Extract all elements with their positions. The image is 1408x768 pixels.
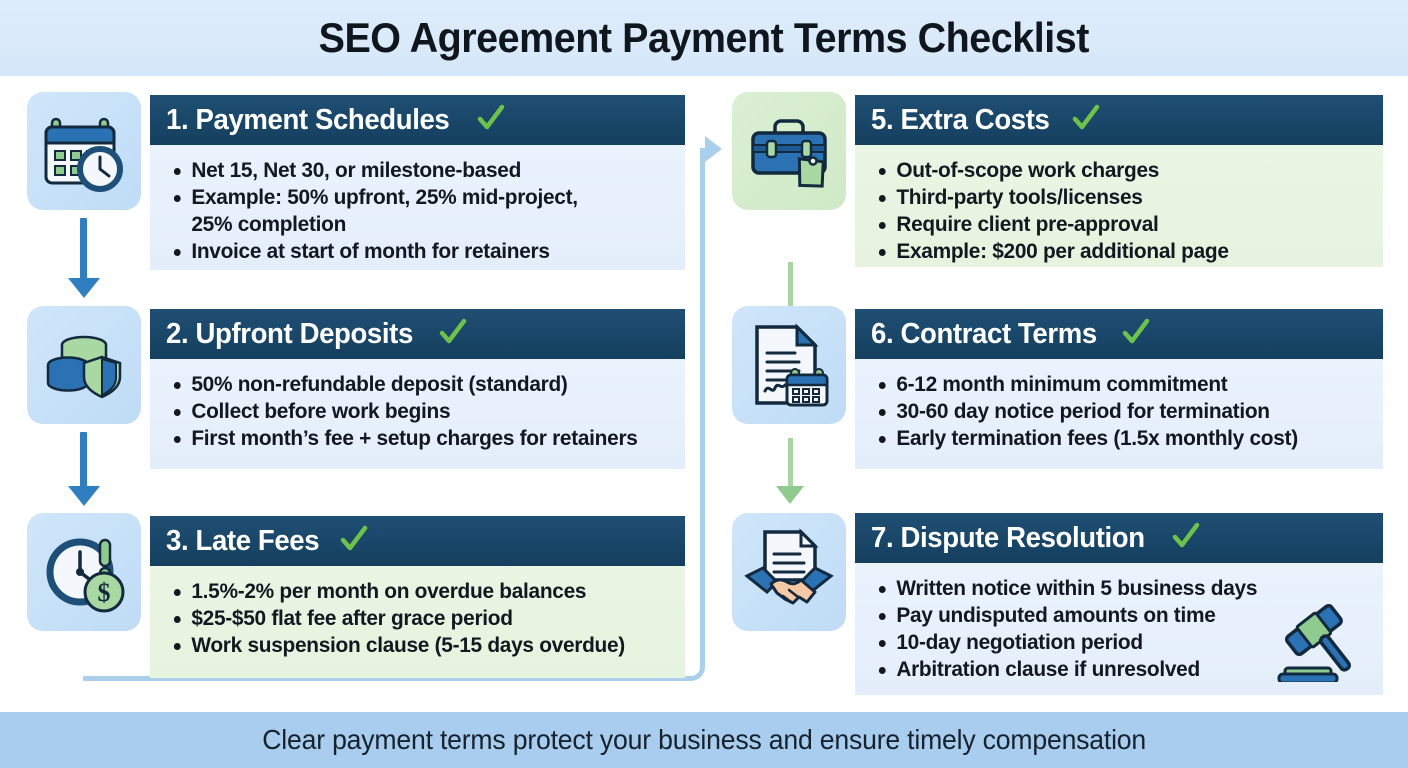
card-header: 2. Upfront Deposits bbox=[150, 309, 685, 359]
connector-arrow-into-card5 bbox=[705, 136, 722, 162]
card-panel: 3. Late Fees 1.5%-2% per month on overdu… bbox=[150, 516, 685, 678]
handshake-document-icon bbox=[732, 513, 846, 631]
card-body: 1.5%-2% per month on overdue balances $2… bbox=[150, 566, 685, 678]
list-item: First month’s fee + setup charges for re… bbox=[170, 425, 656, 452]
list-item: Invoice at start of month for retainers bbox=[170, 238, 656, 265]
bullet-list: Net 15, Net 30, or milestone-based Examp… bbox=[170, 157, 671, 265]
list-item: Work suspension clause (5-15 days overdu… bbox=[170, 632, 656, 659]
list-item: Collect before work begins bbox=[170, 398, 656, 425]
card-header: 7. Dispute Resolution bbox=[855, 513, 1383, 563]
card-title: 7. Dispute Resolution bbox=[871, 522, 1145, 555]
gavel-icon bbox=[1269, 596, 1365, 687]
signed-document-calendar-icon bbox=[732, 306, 846, 424]
bullet-list: Out-of-scope work charges Third-party to… bbox=[875, 157, 1369, 265]
footer-banner: Clear payment terms protect your busines… bbox=[0, 712, 1408, 768]
list-item: $25-$50 flat fee after grace period bbox=[170, 605, 656, 632]
infographic-canvas: SEO Agreement Payment Terms Checklist bbox=[0, 0, 1408, 768]
clock-dollar-alert-icon: $ bbox=[27, 513, 141, 631]
checkmark-icon bbox=[476, 104, 506, 137]
bullet-list: 50% non-refundable deposit (standard) Co… bbox=[170, 371, 671, 452]
list-item: Require client pre-approval bbox=[875, 211, 1354, 238]
card-body: Written notice within 5 business days Pa… bbox=[855, 563, 1383, 695]
card-header: 1. Payment Schedules bbox=[150, 95, 685, 145]
checkmark-icon bbox=[1171, 522, 1201, 555]
calendar-clock-icon bbox=[27, 92, 141, 210]
bullet-list: 6-12 month minimum commitment 30-60 day … bbox=[875, 371, 1369, 452]
card-title: 2. Upfront Deposits bbox=[166, 318, 413, 351]
card-title: 5. Extra Costs bbox=[871, 104, 1049, 137]
list-item: Example: 50% upfront, 25% mid-project, 2… bbox=[170, 184, 656, 238]
list-item: Example: $200 per additional page bbox=[875, 238, 1354, 265]
card-header: 6. Contract Terms bbox=[855, 309, 1383, 359]
card-title: 1. Payment Schedules bbox=[166, 104, 449, 137]
checkmark-icon bbox=[1071, 104, 1101, 137]
list-item: 50% non-refundable deposit (standard) bbox=[170, 371, 656, 398]
card-panel: 1. Payment Schedules Net 15, Net 30, or … bbox=[150, 95, 685, 270]
card-panel: 7. Dispute Resolution Written notice wit… bbox=[855, 513, 1383, 695]
card-body: Out-of-scope work charges Third-party to… bbox=[855, 145, 1383, 267]
card-body: 50% non-refundable deposit (standard) Co… bbox=[150, 359, 685, 469]
coins-shield-icon bbox=[27, 306, 141, 424]
list-item: Out-of-scope work charges bbox=[875, 157, 1354, 184]
list-item: 1.5%-2% per month on overdue balances bbox=[170, 578, 656, 605]
card-panel: 6. Contract Terms 6-12 month minimum com… bbox=[855, 309, 1383, 469]
footer-text: Clear payment terms protect your busines… bbox=[262, 724, 1146, 756]
list-item: 6-12 month minimum commitment bbox=[875, 371, 1354, 398]
card-body: 6-12 month minimum commitment 30-60 day … bbox=[855, 359, 1383, 469]
bullet-list: 1.5%-2% per month on overdue balances $2… bbox=[170, 578, 671, 659]
card-panel: 2. Upfront Deposits 50% non-refundable d… bbox=[150, 309, 685, 469]
checkmark-icon bbox=[438, 318, 468, 351]
list-item: Net 15, Net 30, or milestone-based bbox=[170, 157, 656, 184]
svg-text:$: $ bbox=[98, 578, 111, 607]
card-panel: 5. Extra Costs Out-of-scope work charges… bbox=[855, 95, 1383, 267]
list-item: Third-party tools/licenses bbox=[875, 184, 1354, 211]
card-title: 6. Contract Terms bbox=[871, 318, 1097, 351]
card-title: 3. Late Fees bbox=[166, 525, 319, 558]
list-item: Early termination fees (1.5x monthly cos… bbox=[875, 425, 1354, 452]
list-item: 30-60 day notice period for termination bbox=[875, 398, 1354, 425]
toolbox-tag-icon bbox=[732, 92, 846, 210]
title-banner: SEO Agreement Payment Terms Checklist bbox=[0, 0, 1408, 76]
page-title: SEO Agreement Payment Terms Checklist bbox=[319, 14, 1089, 62]
card-header: 5. Extra Costs bbox=[855, 95, 1383, 145]
checkmark-icon bbox=[1121, 318, 1151, 351]
card-body: Net 15, Net 30, or milestone-based Examp… bbox=[150, 145, 685, 270]
checkmark-icon bbox=[339, 525, 369, 558]
card-header: 3. Late Fees bbox=[150, 516, 685, 566]
